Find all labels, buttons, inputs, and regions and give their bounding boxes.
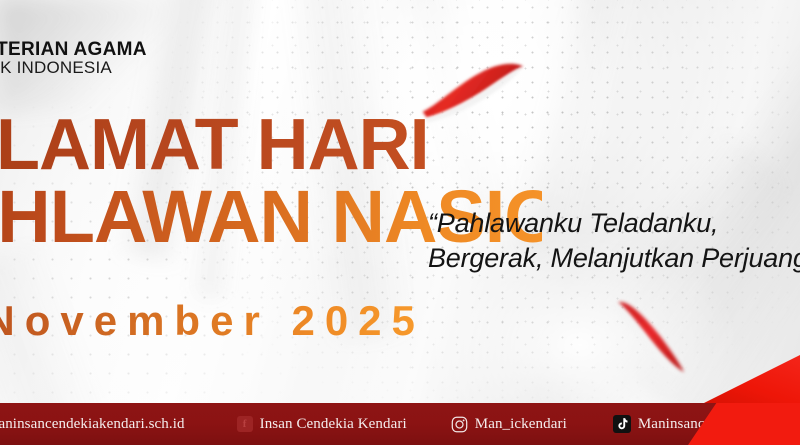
instagram-icon [451,416,468,433]
footer-item-facebook[interactable]: f Insan Cendekia Kendari [237,416,407,433]
headline-date: 10 November 2025 [0,297,425,345]
banner-canvas: KEMENTERIAN AGAMA REPUBLIK INDONESIA SEL… [0,0,800,445]
footer-label-facebook: Insan Cendekia Kendari [260,416,407,433]
footer-item-instagram[interactable]: Man_ickendari [451,416,567,433]
institution-logo: KEMENTERIAN AGAMA REPUBLIK INDONESIA [0,40,106,77]
footer-bar: www.maninsancendekiakendari.sch.id f Ins… [0,403,800,445]
footer-label-instagram: Man_ickendari [475,416,567,433]
footer-item-website[interactable]: www.maninsancendekiakendari.sch.id [0,416,185,433]
headline-line-1: SELAMAT HARI [0,112,542,178]
tagline-quote: “Pahlawanku Teladanku, Bergerak, Melanju… [428,206,800,275]
indonesian-flag-ribbon-lower [604,292,712,384]
facebook-icon: f [237,416,253,432]
tagline-line-1: “Pahlawanku Teladanku, [428,206,800,241]
tagline-line-2: Bergerak, Melanjutkan Perjuangan” [428,241,800,276]
tiktok-icon [613,415,631,433]
institution-name-line1: KEMENTERIAN AGAMA [0,40,106,59]
footer-social-list: www.maninsancendekiakendari.sch.id f Ins… [0,403,798,445]
institution-name-line2: REPUBLIK INDONESIA [0,59,106,76]
footer-label-website: www.maninsancendekiakendari.sch.id [0,416,185,433]
